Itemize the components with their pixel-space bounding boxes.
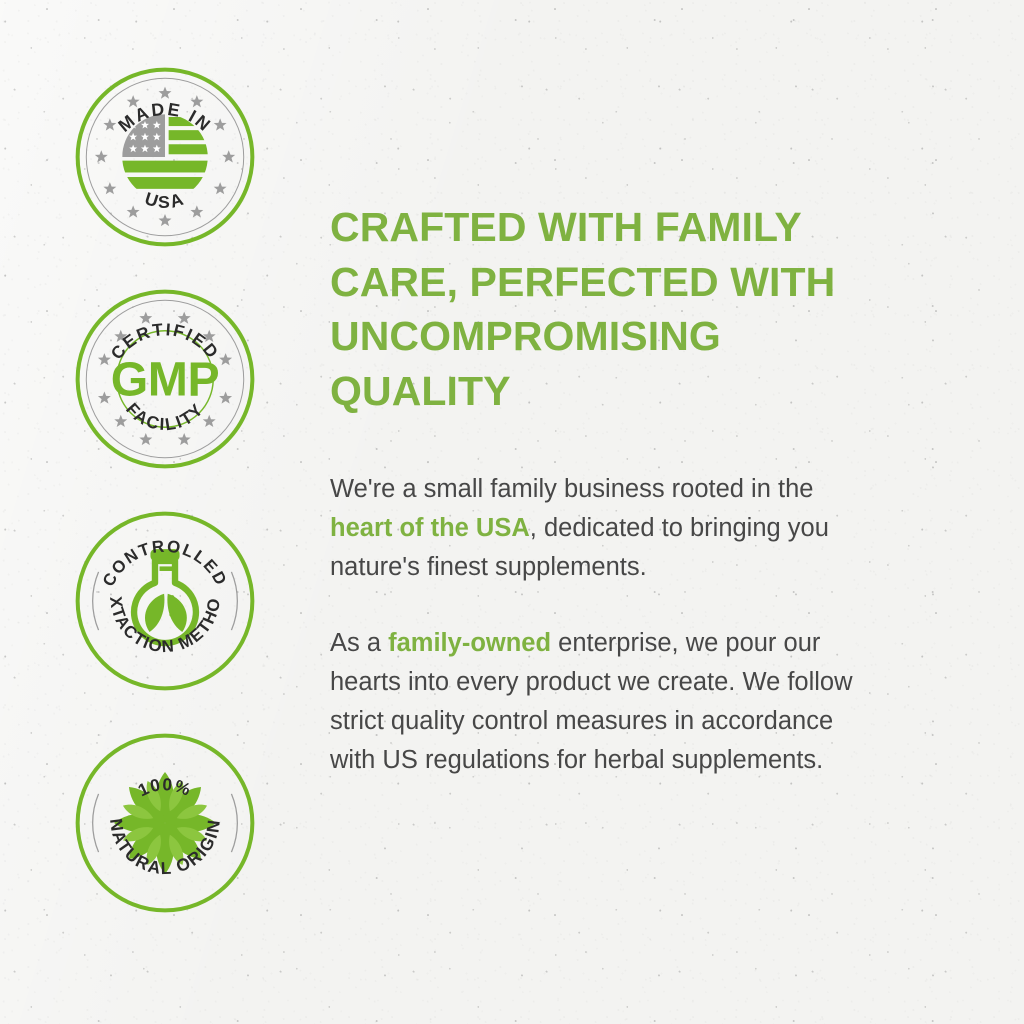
badge-controlled-extraction-method: CONTROLLED EXTACTION METHOD bbox=[74, 510, 256, 692]
paragraph-1-before: We're a small family business rooted in … bbox=[330, 475, 813, 503]
certification-badge-column: MADE IN USA bbox=[0, 0, 330, 914]
paragraph-1-highlight: heart of the USA bbox=[330, 514, 530, 542]
copy-column: CRAFTED WITH FAMILY CARE, PERFECTED WITH… bbox=[330, 0, 1024, 780]
intro-paragraph: We're a small family business rooted in … bbox=[330, 470, 860, 587]
flask-leaf-icon bbox=[134, 549, 196, 643]
badge-left-arc bbox=[93, 572, 99, 630]
badge-center-text: GMP bbox=[111, 352, 219, 406]
badge-bottom-text: USA bbox=[142, 188, 187, 212]
badge-top-text: MADE IN bbox=[114, 99, 215, 136]
badge-gmp-certified-facility: GMP CERTIFIED FACILITY bbox=[74, 288, 256, 470]
page-headline: CRAFTED WITH FAMILY CARE, PERFECTED WITH… bbox=[330, 200, 890, 418]
brand-trust-panel: MADE IN USA bbox=[0, 0, 1024, 1024]
badge-right-arc bbox=[231, 794, 237, 852]
badge-natural-origin: 100% NATURAL ORIGIN bbox=[74, 732, 256, 914]
badge-made-in-usa: MADE IN USA bbox=[74, 66, 256, 248]
paragraph-2-highlight: family-owned bbox=[388, 629, 551, 657]
badge-left-arc bbox=[93, 794, 99, 852]
badge-right-arc bbox=[231, 572, 237, 630]
quality-paragraph: As a family-owned enterprise, we pour ou… bbox=[330, 624, 875, 780]
paragraph-2-before: As a bbox=[330, 629, 388, 657]
